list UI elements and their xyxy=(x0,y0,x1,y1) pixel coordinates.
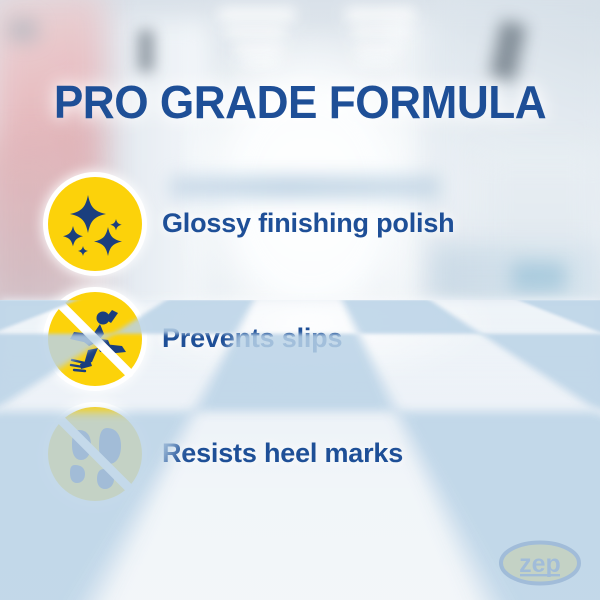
sparkles-icon xyxy=(48,177,142,271)
feature-label: Glossy finishing polish xyxy=(162,208,454,239)
promo-content: PRO GRADE FORMULA xyxy=(0,0,600,600)
page-title: PRO GRADE FORMULA xyxy=(12,76,588,128)
feature-list: Glossy finishing polish xyxy=(0,166,600,511)
feature-item: Resists heel marks xyxy=(0,396,600,511)
zep-wordmark: zep xyxy=(519,550,561,578)
no-heel-marks-icon xyxy=(48,407,142,501)
zep-logo: zep xyxy=(498,540,582,586)
feature-item: Prevents slips xyxy=(0,281,600,396)
no-slip-icon xyxy=(48,292,142,386)
feature-label: Prevents slips xyxy=(162,323,342,354)
feature-label: Resists heel marks xyxy=(162,438,403,469)
feature-item: Glossy finishing polish xyxy=(0,166,600,281)
